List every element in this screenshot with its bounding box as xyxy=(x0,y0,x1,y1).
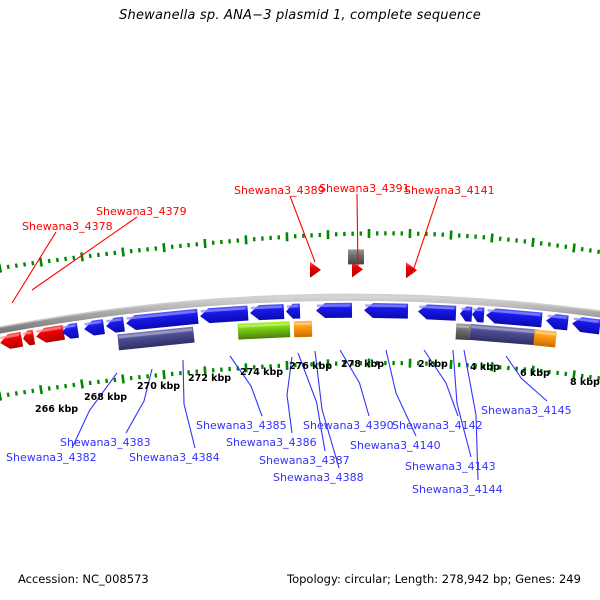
tick-mark-outer xyxy=(572,243,576,252)
red-gene-label-2[interactable]: Shewana3_4389 xyxy=(234,185,325,196)
tick-mark-outer xyxy=(286,232,289,241)
feature-green-1[interactable] xyxy=(238,321,291,339)
tick-mark-inner xyxy=(449,360,452,369)
tick-mark-outer xyxy=(56,258,59,263)
feature-box-highlight xyxy=(295,322,311,325)
tick-mark-outer xyxy=(327,230,330,239)
tick-mark-outer xyxy=(368,229,371,238)
red-gene-label-4[interactable]: Shewana3_4141 xyxy=(404,185,495,196)
blue-gene-label-7[interactable]: Shewana3_4390 xyxy=(303,420,394,431)
topology-text: Topology: circular; Length: 278,942 bp; … xyxy=(287,572,581,586)
tick-mark-outer xyxy=(474,234,477,238)
blue-gene-label-0[interactable]: Shewana3_4382 xyxy=(6,452,97,463)
tick-mark-inner xyxy=(64,384,67,389)
tick-mark-outer xyxy=(401,231,404,235)
red-gene-label-1[interactable]: Shewana3_4379 xyxy=(96,206,187,217)
scale-tick-label-7[interactable]: 2 kbp xyxy=(418,359,448,370)
tick-mark-outer xyxy=(121,247,125,256)
tick-mark-outer xyxy=(72,256,75,261)
tick-mark-outer xyxy=(376,231,378,235)
red-leader-line xyxy=(290,196,315,262)
tick-mark-inner xyxy=(0,391,2,400)
gene-arrow-shape xyxy=(0,332,23,351)
tick-mark-inner xyxy=(384,361,386,365)
gene-blue-11[interactable] xyxy=(460,306,473,322)
tick-mark-inner xyxy=(171,372,174,376)
tick-mark-outer xyxy=(351,232,353,236)
tick-mark-inner xyxy=(105,379,108,383)
red-gene-label-3[interactable]: Shewana3_4391 xyxy=(319,183,410,194)
tick-mark-outer xyxy=(220,240,223,244)
tick-mark-outer xyxy=(244,235,247,244)
tick-mark-outer xyxy=(146,247,149,251)
tick-mark-inner xyxy=(146,374,149,378)
gene-blue-15[interactable] xyxy=(571,316,600,334)
tick-mark-outer xyxy=(466,234,469,238)
tick-mark-inner xyxy=(48,386,51,391)
tick-mark-outer xyxy=(0,263,2,272)
gene-blue-6[interactable] xyxy=(250,304,285,320)
tick-mark-outer xyxy=(15,263,18,268)
tick-mark-outer xyxy=(589,248,592,252)
blue-gene-label-2[interactable]: Shewana3_4384 xyxy=(129,452,220,463)
tick-mark-outer xyxy=(269,236,272,240)
tick-mark-outer xyxy=(417,232,420,236)
tick-mark-outer xyxy=(343,232,345,236)
gene-blue-7[interactable] xyxy=(286,304,300,319)
scale-tick-label-9[interactable]: 6 kbp xyxy=(520,368,550,379)
tick-mark-inner xyxy=(409,359,412,368)
scale-tick-label-1[interactable]: 268 kbp xyxy=(84,392,127,403)
tick-mark-outer xyxy=(499,237,502,241)
red-leader-lines xyxy=(12,194,438,303)
gene-arrow-highlight xyxy=(287,305,298,308)
outer-gray-marker-group[interactable] xyxy=(348,249,364,264)
scale-tick-label-4[interactable]: 274 kbp xyxy=(240,367,283,378)
tick-mark-inner xyxy=(113,378,116,382)
tick-mark-inner xyxy=(335,362,337,366)
tick-mark-inner xyxy=(121,374,125,383)
tick-mark-inner xyxy=(179,371,182,375)
tick-mark-outer xyxy=(310,233,312,237)
tick-mark-outer xyxy=(523,239,526,243)
tick-mark-inner xyxy=(89,381,92,385)
scale-tick-label-10[interactable]: 8 kbp xyxy=(570,377,600,388)
tick-mark-outer xyxy=(548,242,551,246)
scale-tick-label-6[interactable]: 278 kbp xyxy=(341,359,384,370)
blue-gene-label-11[interactable]: Shewana3_4144 xyxy=(412,484,503,495)
tick-mark-inner xyxy=(458,363,461,367)
gene-blue-14[interactable] xyxy=(545,313,569,330)
tick-mark-inner xyxy=(564,372,567,376)
tick-mark-inner xyxy=(401,361,404,365)
scale-tick-label-3[interactable]: 272 kbp xyxy=(188,373,231,384)
feature-gray-1[interactable] xyxy=(456,323,471,340)
tick-mark-outer xyxy=(278,235,281,239)
tick-mark-inner xyxy=(31,389,34,394)
gene-blue-12[interactable] xyxy=(472,307,485,323)
scale-tick-label-8[interactable]: 4 kbp xyxy=(470,362,500,373)
tick-mark-inner xyxy=(162,370,165,379)
status-bar: Accession: NC_008573 Topology: circular;… xyxy=(0,572,600,594)
gene-arrow-highlight xyxy=(317,304,350,307)
blue-gene-label-4[interactable]: Shewana3_4386 xyxy=(226,437,317,448)
tick-mark-outer xyxy=(236,238,239,242)
tick-mark-outer xyxy=(80,252,84,261)
tick-mark-outer xyxy=(490,233,493,242)
gene-blue-13[interactable] xyxy=(485,308,542,328)
tick-mark-outer xyxy=(64,257,67,262)
tick-mark-outer xyxy=(507,237,510,241)
tick-mark-outer xyxy=(187,243,190,247)
tick-mark-outer xyxy=(23,262,26,267)
tick-mark-outer xyxy=(360,231,362,235)
gene-red-1[interactable] xyxy=(0,332,23,351)
tick-mark-outer xyxy=(31,261,34,266)
tick-mark-outer xyxy=(154,246,157,250)
marker-gray-a[interactable] xyxy=(348,249,364,264)
feature-orange-1[interactable] xyxy=(294,321,312,337)
gene-blue-3[interactable] xyxy=(105,317,125,334)
scale-tick-label-5[interactable]: 276 kbp xyxy=(289,361,332,372)
tick-mark-outer xyxy=(449,231,452,240)
tick-mark-outer xyxy=(556,243,559,247)
tick-mark-outer xyxy=(409,229,412,238)
feature-purple-2[interactable] xyxy=(469,324,538,345)
tick-mark-outer xyxy=(515,238,518,242)
blue-gene-label-3[interactable]: Shewana3_4385 xyxy=(196,420,287,431)
red-gene-label-0[interactable]: Shewana3_4378 xyxy=(22,221,113,232)
tick-mark-inner xyxy=(228,367,231,371)
scale-tick-label-0[interactable]: 266 kbp xyxy=(35,404,78,415)
tick-mark-outer xyxy=(335,232,337,236)
tick-mark-outer xyxy=(319,233,321,237)
tick-mark-inner xyxy=(56,385,59,390)
tick-mark-outer xyxy=(392,231,394,235)
blue-gene-label-10[interactable]: Shewana3_4143 xyxy=(405,461,496,472)
feature-orange-2[interactable] xyxy=(533,329,557,347)
tick-mark-outer xyxy=(531,238,534,247)
tick-mark-outer xyxy=(441,232,444,236)
tick-mark-outer xyxy=(540,241,543,245)
tick-mark-inner xyxy=(15,391,18,396)
tick-mark-inner xyxy=(130,376,133,380)
blue-gene-label-9[interactable]: Shewana3_4142 xyxy=(392,420,483,431)
tick-mark-inner xyxy=(220,367,223,371)
tick-mark-outer xyxy=(458,233,461,237)
tick-mark-outer xyxy=(130,249,133,253)
marker-red-a[interactable] xyxy=(310,262,321,278)
tick-mark-outer xyxy=(384,231,386,235)
gene-blue-9[interactable] xyxy=(364,303,408,319)
tick-mark-inner xyxy=(23,390,26,395)
gene-blue-10[interactable] xyxy=(418,304,457,321)
tick-mark-inner xyxy=(212,368,215,372)
tick-mark-outer xyxy=(564,245,567,249)
blue-gene-label-5[interactable]: Shewana3_4387 xyxy=(259,455,350,466)
genome-map-canvas[interactable] xyxy=(0,0,600,600)
tick-mark-outer xyxy=(195,242,198,246)
tick-mark-outer xyxy=(105,252,108,256)
tick-mark-inner xyxy=(80,379,84,388)
tick-mark-inner xyxy=(392,361,394,365)
tick-mark-inner xyxy=(138,375,141,379)
tick-mark-outer xyxy=(162,243,165,252)
genome-map-viewer: Shewanella sp. ANA−3 plasmid 1, complete… xyxy=(0,0,600,600)
tick-mark-outer xyxy=(48,259,51,264)
tick-mark-outer xyxy=(203,239,206,248)
outer-tick-arc xyxy=(0,229,600,273)
tick-mark-outer xyxy=(228,239,231,243)
tick-mark-inner xyxy=(7,392,10,397)
tick-mark-outer xyxy=(433,232,436,236)
tick-mark-outer xyxy=(7,265,10,270)
tick-mark-outer xyxy=(261,236,264,240)
blue-gene-label-12[interactable]: Shewana3_4145 xyxy=(481,405,572,416)
gene-red-2[interactable] xyxy=(22,330,35,347)
accession-text: Accession: NC_008573 xyxy=(18,572,149,586)
tick-mark-outer xyxy=(89,254,92,258)
red-leader-line xyxy=(12,232,56,303)
gene-blue-2[interactable] xyxy=(83,319,105,337)
tick-mark-inner xyxy=(154,373,157,377)
blue-gene-label-8[interactable]: Shewana3_4140 xyxy=(350,440,441,451)
tick-mark-outer xyxy=(179,244,182,248)
tick-mark-outer xyxy=(581,247,584,251)
tick-mark-inner xyxy=(97,380,100,384)
gene-blue-5[interactable] xyxy=(200,306,249,324)
tick-mark-inner xyxy=(556,371,559,375)
tick-mark-outer xyxy=(113,251,116,255)
blue-gene-label-6[interactable]: Shewana3_4388 xyxy=(273,472,364,483)
tick-mark-inner xyxy=(39,385,43,394)
feature-purple-1[interactable] xyxy=(117,327,194,351)
gene-red-3[interactable] xyxy=(35,325,65,344)
tick-mark-outer xyxy=(212,241,215,245)
tick-mark-inner xyxy=(507,366,510,370)
tick-mark-outer xyxy=(482,235,485,239)
gene-blue-8[interactable] xyxy=(316,303,352,318)
tick-mark-inner xyxy=(72,383,75,388)
tick-mark-outer xyxy=(294,234,297,238)
tick-mark-outer xyxy=(97,253,100,257)
blue-gene-label-1[interactable]: Shewana3_4383 xyxy=(60,437,151,448)
tick-mark-outer xyxy=(138,248,141,252)
tick-mark-outer xyxy=(253,237,256,241)
scale-tick-label-2[interactable]: 270 kbp xyxy=(137,381,180,392)
tick-mark-outer xyxy=(171,245,174,249)
